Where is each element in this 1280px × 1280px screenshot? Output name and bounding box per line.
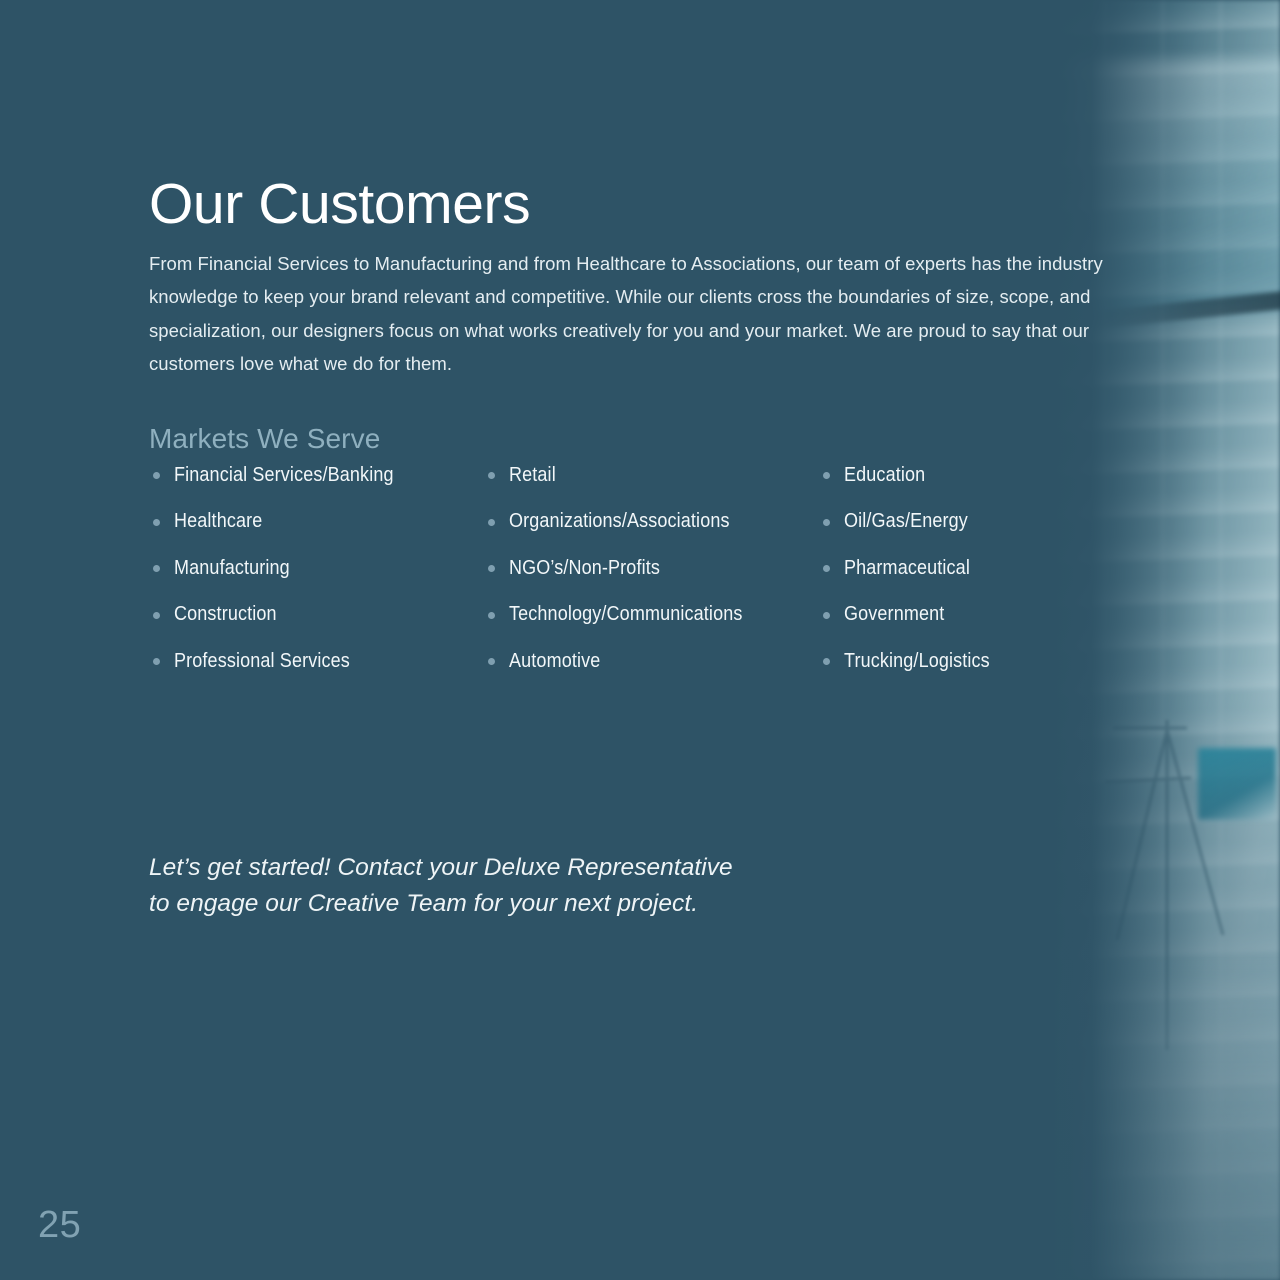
bullet-icon: [488, 472, 495, 479]
list-item: Organizations/Associations: [484, 499, 819, 546]
bullet-icon: [153, 658, 160, 665]
list-item: Professional Services: [149, 638, 484, 685]
list-item: NGO’s/Non-Profits: [484, 545, 819, 592]
list-item-label: Organizations/Associations: [509, 510, 730, 533]
list-item-label: Professional Services: [174, 650, 350, 673]
bullet-icon: [823, 612, 830, 619]
list-item: Manufacturing: [149, 545, 484, 592]
closing-line-2: to engage our Creative Team for your nex…: [149, 886, 909, 922]
list-item: Automotive: [484, 638, 819, 685]
bullet-icon: [488, 519, 495, 526]
list-item: Technology/Communications: [484, 592, 819, 639]
markets-column-1: Financial Services/Banking Healthcare Ma…: [149, 452, 484, 685]
markets-list: Financial Services/Banking Healthcare Ma…: [149, 452, 1109, 685]
list-item-label: Construction: [174, 603, 277, 626]
bullet-icon: [153, 519, 160, 526]
list-item-label: NGO’s/Non-Profits: [509, 557, 660, 580]
list-item: Healthcare: [149, 499, 484, 546]
bullet-icon: [823, 565, 830, 572]
list-item-label: Pharmaceutical: [844, 557, 970, 580]
list-item-label: Automotive: [509, 650, 600, 673]
list-item-label: Healthcare: [174, 510, 262, 533]
bullet-icon: [823, 519, 830, 526]
markets-column-2: Retail Organizations/Associations NGO’s/…: [484, 452, 819, 685]
list-item: Trucking/Logistics: [819, 638, 1154, 685]
list-item-label: Trucking/Logistics: [844, 650, 990, 673]
bullet-icon: [823, 472, 830, 479]
list-item: Oil/Gas/Energy: [819, 499, 1154, 546]
list-item-label: Oil/Gas/Energy: [844, 510, 968, 533]
list-item: Pharmaceutical: [819, 545, 1154, 592]
bullet-icon: [153, 472, 160, 479]
list-item-label: Retail: [509, 464, 556, 487]
page-title: Our Customers: [149, 175, 530, 235]
list-item: Retail: [484, 452, 819, 499]
markets-we-serve-heading: Markets We Serve: [149, 423, 380, 455]
list-item: Government: [819, 592, 1154, 639]
page-number: 25: [38, 1204, 81, 1247]
bullet-icon: [153, 612, 160, 619]
list-item: Financial Services/Banking: [149, 452, 484, 499]
list-item: Education: [819, 452, 1154, 499]
list-item-label: Manufacturing: [174, 557, 290, 580]
page-content: Our Customers From Financial Services to…: [0, 0, 1280, 1280]
bullet-icon: [488, 565, 495, 572]
list-item-label: Education: [844, 464, 925, 487]
markets-column-3: Education Oil/Gas/Energy Pharmaceutical …: [819, 452, 1154, 685]
brochure-page: Our Customers From Financial Services to…: [0, 0, 1280, 1280]
intro-paragraph: From Financial Services to Manufacturing…: [149, 247, 1117, 381]
bullet-icon: [488, 658, 495, 665]
list-item-label: Financial Services/Banking: [174, 464, 394, 487]
closing-statement: Let’s get started! Contact your Deluxe R…: [149, 850, 909, 922]
list-item-label: Technology/Communications: [509, 603, 742, 626]
bullet-icon: [488, 612, 495, 619]
bullet-icon: [153, 565, 160, 572]
bullet-icon: [823, 658, 830, 665]
list-item-label: Government: [844, 603, 944, 626]
list-item: Construction: [149, 592, 484, 639]
closing-line-1: Let’s get started! Contact your Deluxe R…: [149, 850, 909, 886]
